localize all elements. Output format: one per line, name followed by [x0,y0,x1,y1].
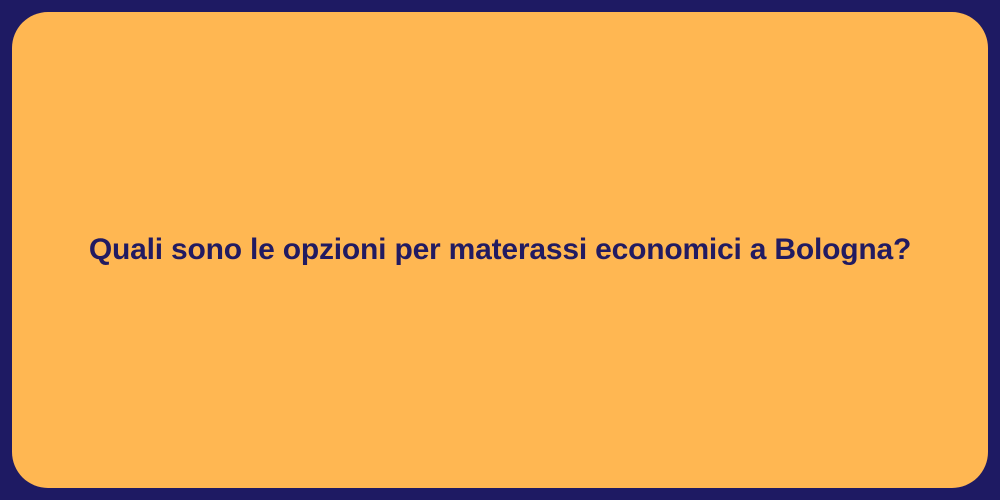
question-card: Quali sono le opzioni per materassi econ… [0,0,1000,500]
question-text: Quali sono le opzioni per materassi econ… [49,231,951,269]
question-card-panel: Quali sono le opzioni per materassi econ… [12,12,988,488]
